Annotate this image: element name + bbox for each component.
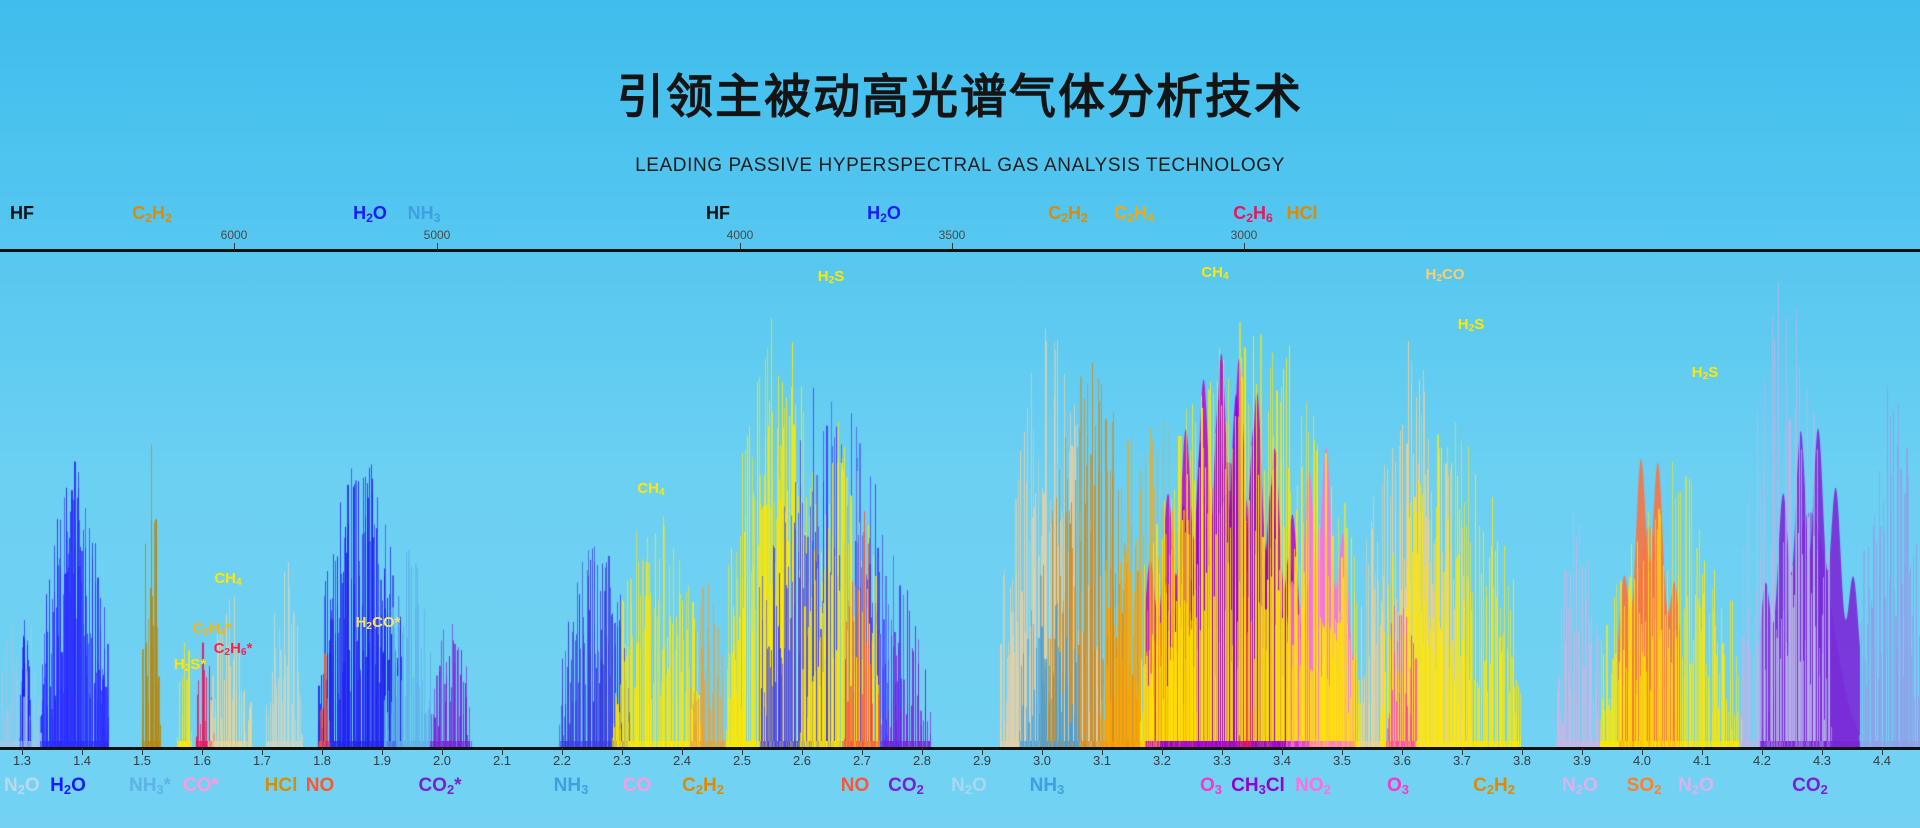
axis-tick-label: 1.8 bbox=[313, 753, 331, 768]
axis-tick-label: 2.5 bbox=[733, 753, 751, 768]
page-title: 引领主被动高光谱气体分析技术 bbox=[0, 58, 1920, 127]
axis-tick-mark bbox=[1102, 748, 1103, 755]
inline-annotation-h2s: H2S bbox=[1692, 364, 1719, 381]
species-label-co2: CO2* bbox=[418, 775, 461, 797]
spectrum-plot bbox=[0, 252, 1920, 748]
axis-tick-mark bbox=[1342, 748, 1343, 755]
page-header: 引领主被动高光谱气体分析技术 LEADING PASSIVE HYPERSPEC… bbox=[0, 0, 1920, 196]
axis-tick-mark bbox=[1762, 748, 1763, 755]
axis-tick-mark bbox=[952, 243, 953, 250]
axis-tick-label: 3000 bbox=[1231, 228, 1258, 242]
axis-tick-mark bbox=[234, 243, 235, 250]
species-label-so2: SO2 bbox=[1627, 775, 1662, 797]
axis-tick-label: 3.4 bbox=[1273, 753, 1291, 768]
axis-tick-mark bbox=[1882, 748, 1883, 755]
axis-tick-label: 4000 bbox=[727, 228, 754, 242]
axis-tick-label: 3.3 bbox=[1213, 753, 1231, 768]
axis-tick-label: 3.0 bbox=[1033, 753, 1051, 768]
axis-tick-mark bbox=[437, 243, 438, 250]
axis-tick-label: 3.7 bbox=[1453, 753, 1471, 768]
axis-tick-mark bbox=[382, 748, 383, 755]
axis-tick-label: 2.3 bbox=[613, 753, 631, 768]
axis-tick-mark bbox=[1162, 748, 1163, 755]
species-label-co: CO bbox=[623, 775, 652, 797]
axis-tick-label: 1.3 bbox=[13, 753, 31, 768]
species-label-no: NO bbox=[841, 775, 870, 797]
species-label-no: NO bbox=[306, 775, 335, 797]
axis-tick-label: 1.5 bbox=[133, 753, 151, 768]
axis-tick-mark bbox=[1522, 748, 1523, 755]
axis-tick-mark bbox=[1702, 748, 1703, 755]
inline-annotation-ch4: CH4 bbox=[1201, 264, 1228, 281]
species-label-no2: NO2 bbox=[1295, 775, 1331, 797]
axis-tick-mark bbox=[740, 243, 741, 250]
species-label-nh3: NH3 bbox=[1030, 775, 1065, 797]
axis-tick-mark bbox=[1222, 748, 1223, 755]
species-label-co: CO* bbox=[183, 775, 219, 797]
axis-tick-label: 3.8 bbox=[1513, 753, 1531, 768]
inline-annotation-h2co: H2CO* bbox=[356, 614, 401, 631]
species-label-c2h2: C2H2 bbox=[132, 203, 172, 224]
axis-tick-label: 2.6 bbox=[793, 753, 811, 768]
inline-annotation-h2s: H2S* bbox=[174, 656, 206, 673]
axis-tick-label: 3500 bbox=[939, 228, 966, 242]
axis-tick-label: 3.2 bbox=[1153, 753, 1171, 768]
axis-tick-mark bbox=[502, 748, 503, 755]
axis-tick-mark bbox=[802, 748, 803, 755]
axis-tick-label: 3.5 bbox=[1333, 753, 1351, 768]
species-label-ch3cl: CH3Cl bbox=[1231, 775, 1285, 797]
axis-tick-mark bbox=[1822, 748, 1823, 755]
species-label-co2: CO2 bbox=[888, 775, 924, 797]
axis-tick-mark bbox=[1582, 748, 1583, 755]
axis-tick-mark bbox=[142, 748, 143, 755]
axis-tick-label: 2.8 bbox=[913, 753, 931, 768]
axis-tick-label: 1.9 bbox=[373, 753, 391, 768]
axis-tick-mark bbox=[1244, 243, 1245, 250]
axis-tick-mark bbox=[862, 748, 863, 755]
axis-tick-mark bbox=[22, 748, 23, 755]
inline-annotation-ch4: CH4 bbox=[214, 570, 241, 587]
inline-annotation-h2co: H2CO bbox=[1425, 266, 1464, 283]
species-label-nh3: NH3 bbox=[554, 775, 589, 797]
species-label-hcl: HCl bbox=[1287, 203, 1318, 224]
axis-tick-mark bbox=[322, 748, 323, 755]
species-label-nh3: NH3 bbox=[408, 203, 441, 224]
axis-tick-label: 4.0 bbox=[1633, 753, 1651, 768]
axis-tick-mark bbox=[442, 748, 443, 755]
axis-tick-mark bbox=[1042, 748, 1043, 755]
axis-tick-mark bbox=[1402, 748, 1403, 755]
axis-tick-mark bbox=[622, 748, 623, 755]
species-label-hcl: HCl bbox=[265, 775, 298, 797]
species-label-n2o: N2O bbox=[951, 775, 987, 797]
species-label-c2h6: C2H6 bbox=[1233, 203, 1273, 224]
axis-tick-label: 3.6 bbox=[1393, 753, 1411, 768]
axis-tick-mark bbox=[1642, 748, 1643, 755]
species-label-nh3: NH3* bbox=[129, 775, 171, 797]
species-label-c2h2: C2H2 bbox=[1048, 203, 1088, 224]
species-label-n2o-left: N2O bbox=[4, 775, 40, 797]
axis-tick-mark bbox=[82, 748, 83, 755]
axis-tick-label: 6000 bbox=[221, 228, 248, 242]
species-label-c2h2: C2H2 bbox=[682, 775, 724, 797]
species-label-h2o: H2O bbox=[50, 775, 86, 797]
axis-tick-label: 2.9 bbox=[973, 753, 991, 768]
inline-annotation-c2h4: C2H4* bbox=[193, 620, 232, 637]
axis-tick-mark bbox=[562, 748, 563, 755]
axis-tick-label: 3.1 bbox=[1093, 753, 1111, 768]
axis-tick-mark bbox=[982, 748, 983, 755]
axis-tick-mark bbox=[1282, 748, 1283, 755]
axis-tick-label: 4.3 bbox=[1813, 753, 1831, 768]
axis-tick-mark bbox=[1462, 748, 1463, 755]
bottom-axis-line bbox=[0, 747, 1920, 750]
species-label-o3: O3 bbox=[1387, 775, 1409, 797]
axis-tick-label: 2.2 bbox=[553, 753, 571, 768]
axis-tick-label: 4.2 bbox=[1753, 753, 1771, 768]
species-label-h2o: H2O bbox=[353, 203, 387, 224]
species-label-c2h4: C2H4 bbox=[1114, 203, 1154, 224]
inline-annotation-h2s: H2S bbox=[1458, 316, 1485, 333]
axis-tick-label: 2.0 bbox=[433, 753, 451, 768]
axis-tick-label: 4.4 bbox=[1873, 753, 1891, 768]
page-subtitle: LEADING PASSIVE HYPERSPECTRAL GAS ANALYS… bbox=[0, 155, 1920, 177]
axis-tick-label: 3.9 bbox=[1573, 753, 1591, 768]
axis-tick-label: 5000 bbox=[424, 228, 451, 242]
inline-annotation-h2s: H2S bbox=[818, 268, 845, 285]
axis-tick-mark bbox=[742, 748, 743, 755]
axis-tick-label: 1.4 bbox=[73, 753, 91, 768]
species-label-n2o: N2O bbox=[1678, 775, 1714, 797]
axis-tick-mark bbox=[262, 748, 263, 755]
axis-tick-label: 2.7 bbox=[853, 753, 871, 768]
species-label-hf: HF bbox=[10, 203, 34, 224]
axis-tick-label: 1.6 bbox=[193, 753, 211, 768]
axis-tick-label: 1.7 bbox=[253, 753, 271, 768]
species-label-o3: O3 bbox=[1200, 775, 1222, 797]
axis-tick-mark bbox=[682, 748, 683, 755]
species-label-c2h2: C2H2 bbox=[1473, 775, 1515, 797]
axis-tick-mark bbox=[202, 748, 203, 755]
axis-tick-label: 2.1 bbox=[493, 753, 511, 768]
spectral-chart-page: 引领主被动高光谱气体分析技术 LEADING PASSIVE HYPERSPEC… bbox=[0, 0, 1920, 828]
axis-tick-label: 4.1 bbox=[1693, 753, 1711, 768]
inline-annotation-c2h6: C2H6* bbox=[214, 640, 253, 657]
species-label-hf: HF bbox=[706, 203, 730, 224]
species-label-n2o: N2O bbox=[1562, 775, 1598, 797]
inline-annotation-ch4: CH4 bbox=[637, 480, 664, 497]
species-label-h2o: H2O bbox=[867, 203, 901, 224]
species-label-co2: CO2 bbox=[1792, 775, 1828, 797]
axis-tick-label: 2.4 bbox=[673, 753, 691, 768]
axis-tick-mark bbox=[922, 748, 923, 755]
